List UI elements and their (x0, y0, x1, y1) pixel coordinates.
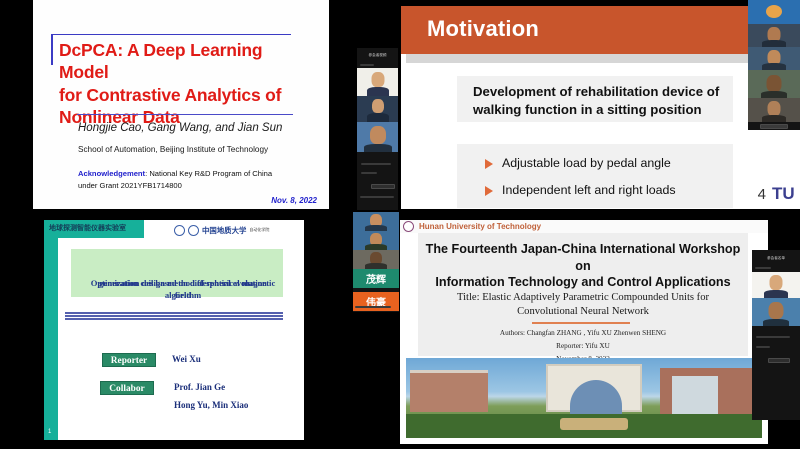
participant-tile[interactable] (752, 272, 800, 298)
lab-banner: 地球探测智能仪器实验室 (44, 220, 144, 238)
title-top-rule (51, 34, 291, 35)
workshop-authors: Authors: Changfan ZHANG , Yifu XU Zhenwe… (432, 329, 734, 337)
participant-face (370, 126, 386, 144)
avatar-initials: 茂辉 (353, 269, 399, 288)
motivation-bullet-1: Adjustable load by pedal angle (485, 156, 671, 170)
reporter-name: Wei Xu (172, 354, 201, 364)
triangle-bullet-icon (485, 186, 493, 196)
motivation-bullet-2-text: Independent left and right loads (502, 183, 676, 197)
strip-divider (355, 306, 391, 308)
coil-title-box: Optimization design method of spherical … (71, 249, 283, 297)
collabor-name-2: Hong Yu, Min Xiao (174, 400, 248, 410)
strip-divider (756, 346, 770, 348)
participant-tile[interactable] (357, 68, 398, 96)
participant-torso (762, 63, 786, 70)
strip-divider (361, 163, 391, 165)
strip-action-button[interactable] (371, 184, 395, 189)
decorative-rules (65, 312, 283, 322)
workshop-reporter: Reporter: Yifu XU (432, 342, 734, 350)
acknowledgement-grant: under Grant 2021YFB1714800 (78, 181, 182, 190)
participant-tile[interactable] (748, 24, 800, 47)
acknowledgement-text: : National Key R&D Program of China (145, 169, 272, 178)
lab-banner-text: 地球探测智能仪器实验室 (49, 223, 126, 233)
participant-tile-active-speaker[interactable] (752, 298, 800, 326)
dcpca-acknowledgement: Acknowledgement: National Key R&D Progra… (78, 168, 323, 192)
university-seal-icon (174, 225, 185, 236)
title-bottom-rule (77, 114, 293, 115)
participant-tile[interactable] (748, 70, 800, 98)
coil-slide-number: 1 (48, 429, 51, 435)
participant-torso (762, 115, 786, 122)
workshop-title: The Fourteenth Japan-China International… (424, 241, 742, 291)
triangle-bullet-icon (485, 159, 493, 169)
participant-torso (763, 319, 789, 326)
participant-torso (762, 40, 786, 47)
participant-face (770, 275, 783, 290)
strip-divider (361, 172, 377, 174)
dcpca-authors: Hongjie Cao, Gang Wang, and Jian Sun (78, 122, 318, 134)
strip-action-button[interactable] (768, 358, 790, 363)
participant-torso (761, 91, 787, 98)
collabor-tag: Collabor (100, 381, 154, 395)
shared-slide-top-right[interactable]: Motivation Development of rehabilitation… (398, 0, 800, 212)
university-logo: 中国地质大学 自动化学院 (174, 222, 302, 238)
campus-photo (406, 358, 762, 438)
participant-strip-top-middle[interactable]: 参会者视频 (357, 48, 398, 210)
hunan-seal-icon (403, 221, 414, 232)
collabor-label: Collabor (101, 382, 153, 396)
campus-building-right-2 (672, 376, 718, 414)
university-school: 自动化学院 (249, 227, 269, 233)
avatar-initials: 伟豪 (353, 292, 399, 311)
dcpca-affiliation: School of Automation, Beijing Institute … (78, 145, 323, 154)
workshop-slide-surface: Hunan University of Technology The Fourt… (400, 220, 768, 444)
motivation-bullet-1-text: Adjustable load by pedal angle (502, 156, 671, 170)
participant-strip-bottom-right[interactable]: 参会者名单 (752, 250, 800, 420)
header-shadow-strip (406, 54, 800, 63)
motivation-bullet-2: Independent left and right loads (485, 183, 676, 197)
participant-face (372, 99, 384, 113)
participant-tile[interactable] (357, 96, 398, 122)
campus-gate-arch (570, 380, 622, 414)
strip-d-panel-title: 参会者名单 (752, 256, 800, 261)
screen-share-canvas: DcPCA: A Deep Learning Model for Contras… (0, 0, 800, 449)
shared-slide-bottom-right[interactable]: Hunan University of Technology The Fourt… (398, 212, 800, 449)
participant-torso (764, 290, 788, 298)
workshop-text-panel: The Fourteenth Japan-China International… (418, 233, 748, 356)
motivation-header-bar: Motivation (401, 6, 800, 54)
workshop-header-bar: Hunan University of Technology (400, 220, 768, 233)
university-name: 中国地质大学 (202, 225, 246, 236)
reporter-tag: Reporter (102, 353, 156, 367)
dcpca-date: Nov. 8, 2022 (271, 196, 317, 205)
participant-face (768, 101, 781, 116)
participant-tile[interactable] (353, 231, 399, 250)
participant-tile-active-speaker[interactable] (357, 122, 398, 152)
strip-a-panel-title: 参会者视频 (357, 53, 398, 58)
strip-divider (360, 64, 374, 66)
motivation-slide-surface: Motivation Development of rehabilitation… (401, 6, 800, 209)
participant-tile[interactable] (353, 212, 399, 231)
shared-slide-bottom-left[interactable]: 地球探测智能仪器实验室 中国地质大学 自动化学院 Optimization de… (0, 212, 352, 449)
participant-torso (364, 144, 392, 152)
participant-tile[interactable] (353, 250, 399, 269)
workshop-paper-title: Title: Elastic Adaptively Parametric Com… (432, 291, 734, 320)
participant-avatar-tile[interactable]: 伟豪 (353, 292, 399, 311)
strip-divider (756, 336, 790, 338)
participant-tile[interactable] (748, 98, 800, 122)
strip-b-action-button[interactable] (760, 124, 788, 129)
participant-torso (367, 113, 389, 122)
participant-face (767, 75, 782, 92)
coil-slide-surface: 地球探测智能仪器实验室 中国地质大学 自动化学院 Optimization de… (44, 220, 304, 440)
participant-avatar-face (766, 5, 782, 18)
shared-slide-top-left[interactable]: DcPCA: A Deep Learning Model for Contras… (0, 0, 352, 212)
coil-title-text: Optimization design method of spherical … (77, 263, 277, 275)
paper-title-underline (532, 322, 630, 324)
motivation-page-number: 4 (758, 186, 766, 203)
dcpca-slide-title: DcPCA: A Deep Learning Model for Contras… (59, 39, 309, 129)
lab-banner-sidebar (44, 238, 58, 440)
participant-strip-top-right[interactable] (748, 0, 800, 130)
strip-divider (360, 196, 394, 198)
campus-building-left (410, 370, 488, 412)
dcpca-slide-surface: DcPCA: A Deep Learning Model for Contras… (33, 0, 329, 209)
university-emblem-icon (188, 225, 199, 236)
reporter-label: Reporter (103, 354, 155, 368)
campus-sign-stone (560, 418, 628, 430)
collabor-name-1: Prof. Jian Ge (174, 382, 225, 392)
tu-logo-icon: TU (772, 183, 794, 205)
participant-torso (367, 87, 389, 96)
acknowledgement-label: Acknowledgement (78, 169, 145, 178)
workshop-university-name: Hunan University of Technology (419, 222, 541, 231)
motivation-statement-box: Development of rehabilitation device of … (457, 76, 733, 122)
campus-gate (546, 364, 642, 412)
participant-face (371, 72, 384, 87)
motivation-bullet-box: Adjustable load by pedal angle Independe… (457, 144, 733, 208)
strip-divider (755, 267, 771, 269)
participant-strip-bottom-middle[interactable]: 茂辉 伟豪 (353, 212, 399, 312)
participant-avatar-tile[interactable]: 茂辉 (353, 269, 399, 288)
participant-tile[interactable] (748, 47, 800, 70)
motivation-statement-text: Development of rehabilitation device of … (473, 83, 721, 119)
participant-face (769, 302, 784, 319)
participant-tile[interactable] (748, 0, 800, 24)
motivation-header-title: Motivation (427, 16, 539, 42)
title-accent-bar (51, 34, 53, 65)
